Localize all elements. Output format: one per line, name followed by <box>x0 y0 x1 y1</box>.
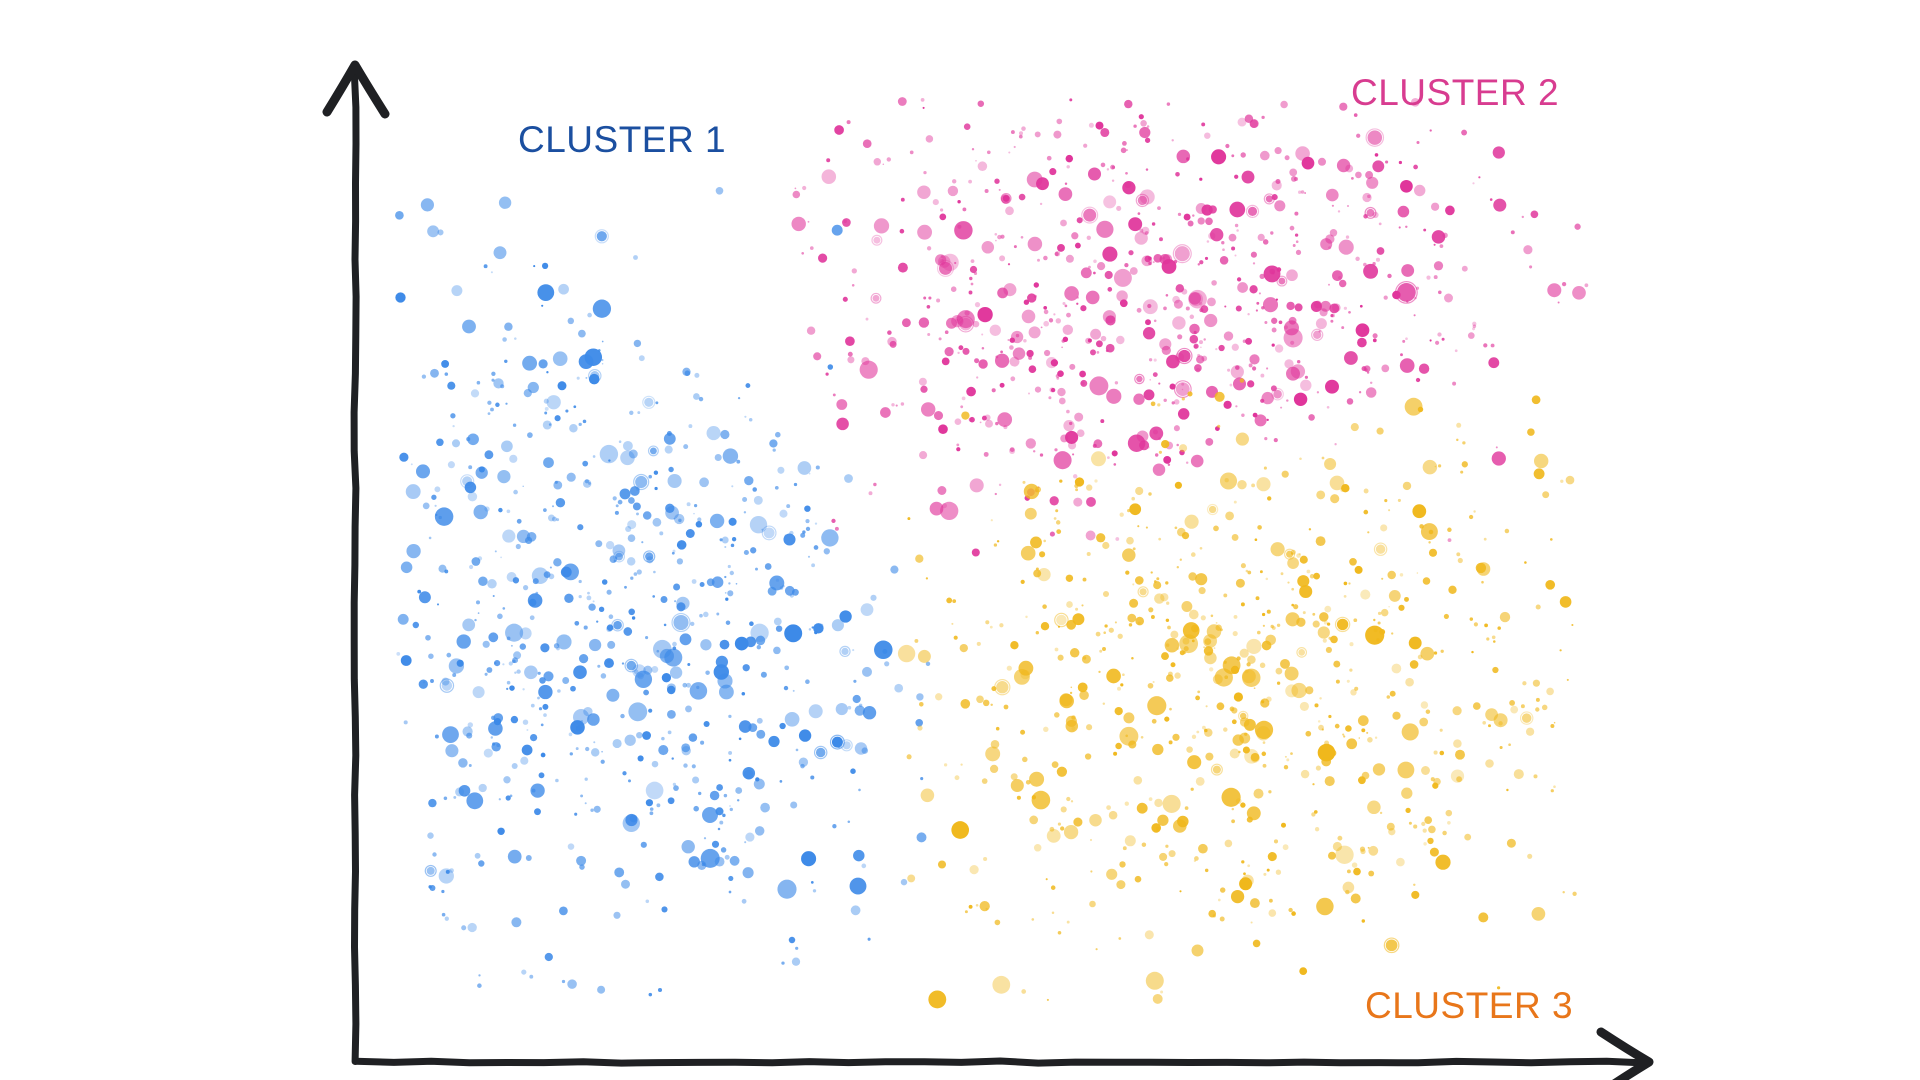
scatter-plot-figure: CLUSTER 1 CLUSTER 2 CLUSTER 3 <box>0 0 1920 1080</box>
cluster-2-label: CLUSTER 2 <box>1351 72 1559 114</box>
arrow-right-icon <box>1599 1032 1649 1080</box>
data-points-layer <box>395 97 1588 1008</box>
cluster-3-label: CLUSTER 3 <box>1365 985 1573 1027</box>
cluster-points-1 <box>395 187 930 996</box>
y-axis-line <box>354 68 356 1062</box>
cluster-points-3 <box>898 378 1577 1008</box>
plot-canvas <box>0 0 1920 1080</box>
axes-layer <box>327 65 1649 1080</box>
cluster-1-label: CLUSTER 1 <box>518 119 726 161</box>
x-axis-line <box>356 1061 1646 1063</box>
cluster-points-2 <box>791 97 1588 556</box>
